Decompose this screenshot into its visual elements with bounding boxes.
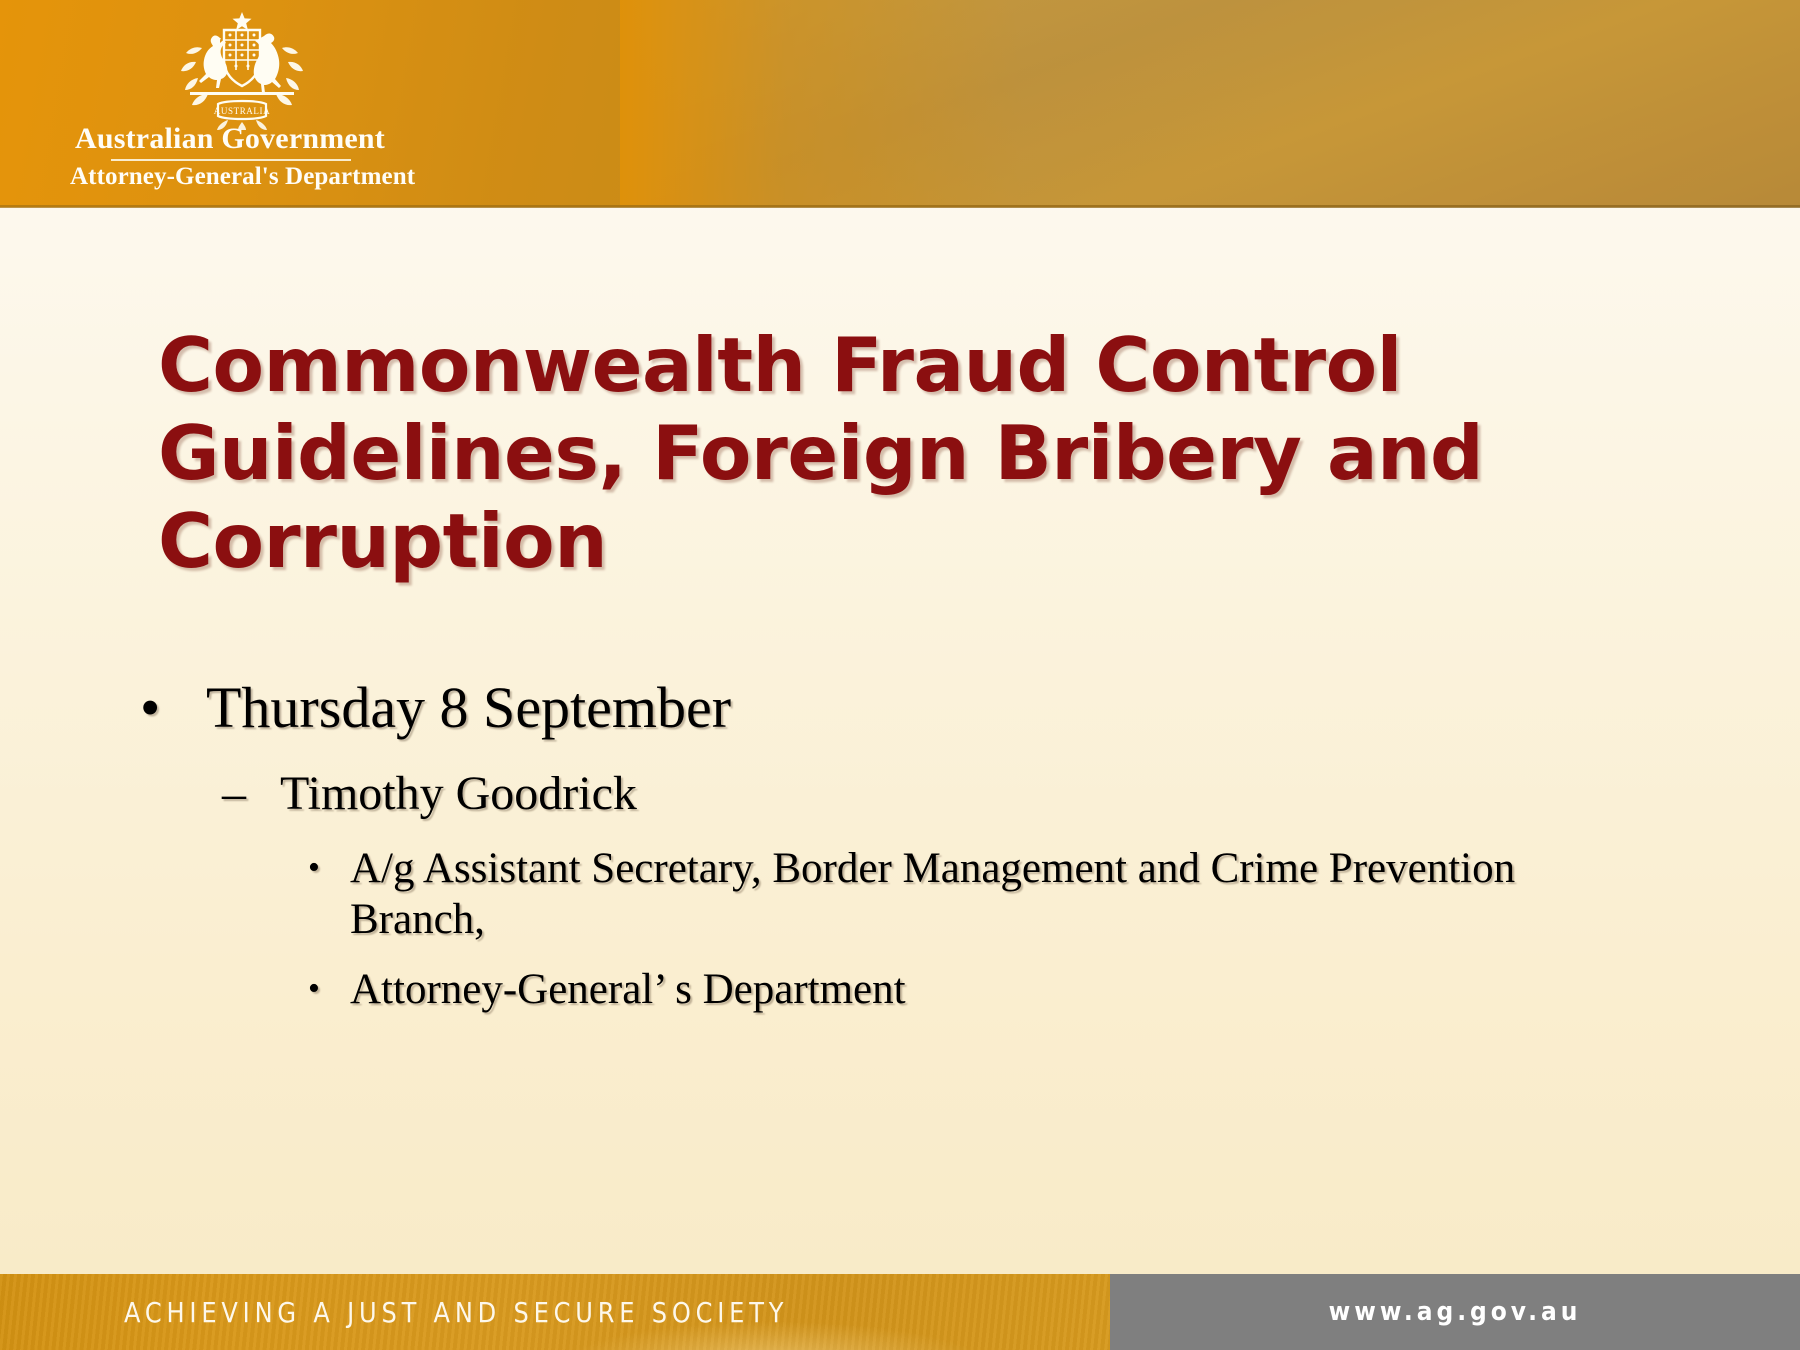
bullet-text-date: Thursday 8 September <box>206 675 731 740</box>
australian-government-logo: AUSTRALIA Australian Government Attorney… <box>70 8 390 200</box>
australian-government-text: Australian Government <box>70 122 390 156</box>
bullet-marker-dot: • <box>308 964 320 1013</box>
bullet-level1: • Thursday 8 September <box>130 676 1690 741</box>
australian-coat-of-arms-icon: AUSTRALIA <box>168 8 316 130</box>
header-gradient-band <box>0 208 1800 234</box>
svg-text:AUSTRALIA: AUSTRALIA <box>214 106 270 116</box>
department-name-text: Attorney-General's Department <box>70 163 390 191</box>
slide-header-banner: AUSTRALIA Australian Government Attorney… <box>0 0 1800 207</box>
bullet-marker-dot: • <box>308 843 320 892</box>
bullet-level3-department: • Attorney-General’ s Department <box>298 964 1580 1016</box>
bullet-marker-dash: – <box>222 767 246 821</box>
bullet-text-presenter-department: Attorney-General’ s Department <box>350 966 906 1013</box>
header-architecture-artwork <box>620 0 1800 207</box>
footer-website-url[interactable]: www.ag.gov.au <box>1145 1274 1766 1350</box>
bullet-text-presenter-role: A/g Assistant Secretary, Border Manageme… <box>350 845 1515 944</box>
slide-title: Commonwealth Fraud Control Guidelines, F… <box>158 322 1588 585</box>
lattice-pattern-icon <box>620 0 1800 207</box>
bullet-marker-dot: • <box>140 676 160 741</box>
slide-footer: ACHIEVING A JUST AND SECURE SOCIETY www.… <box>0 1274 1800 1350</box>
presentation-slide: AUSTRALIA Australian Government Attorney… <box>0 0 1800 1350</box>
footer-tagline: ACHIEVING A JUST AND SECURE SOCIETY <box>124 1274 788 1350</box>
logo-divider-rule <box>111 159 351 161</box>
bullet-text-presenter-name: Timothy Goodrick <box>280 767 637 820</box>
slide-body-content: • Thursday 8 September – Timothy Goodric… <box>130 676 1690 1033</box>
bullet-level3-role: • A/g Assistant Secretary, Border Manage… <box>298 843 1580 946</box>
bullet-level2: – Timothy Goodrick <box>218 767 1690 821</box>
